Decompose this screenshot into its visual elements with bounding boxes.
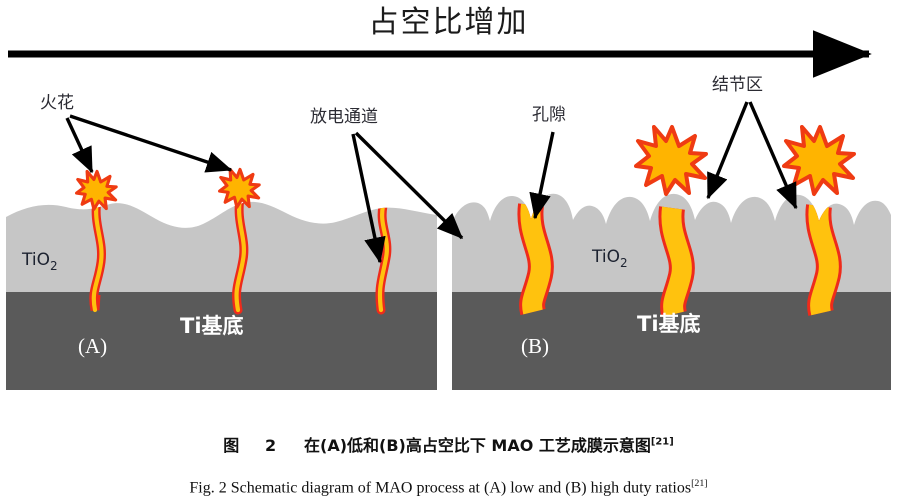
panel-b: TiO2 (B) Ti基底 — [452, 127, 891, 390]
pore-channel-core — [530, 205, 540, 312]
label-nodular-zone: 结节区 — [712, 75, 763, 95]
caption-chinese-text: 在(A)低和(B)高占空比下 MAO 工艺成膜示意图 — [304, 436, 651, 455]
label-spark: 火花 — [40, 93, 74, 113]
panel-a-tag: (A) — [78, 334, 107, 358]
caption-fig-word: 图 — [223, 436, 242, 455]
spark-burst — [220, 169, 260, 207]
panel-b-tag: (B) — [521, 334, 549, 358]
pore-channel-core — [818, 206, 828, 313]
panel-b-substrate-label: Ti基底 — [637, 312, 701, 336]
panel-a-substrate-label: Ti基底 — [180, 314, 244, 338]
caption-chinese: 图 2 在(A)低和(B)高占空比下 MAO 工艺成膜示意图[21] — [0, 432, 897, 456]
callout-arrow-nodular-zone — [708, 102, 796, 208]
spark-burst — [636, 127, 706, 194]
label-pore: 孔隙 — [532, 105, 566, 125]
spark-burst — [77, 171, 117, 209]
label-discharge-channel: 放电通道 — [310, 107, 378, 127]
callout-arrow-spark — [67, 116, 231, 172]
caption-english-ref: [21] — [691, 478, 708, 489]
mao-schematic-diagram: TiO2 (A) Ti基底 — [0, 0, 897, 430]
caption-fig-number: 2 — [265, 436, 276, 455]
spark-burst — [784, 127, 854, 194]
panel-a: TiO2 (A) Ti基底 — [6, 169, 437, 390]
panel-a-oxide-layer — [6, 202, 437, 292]
caption-chinese-ref: [21] — [651, 437, 674, 448]
figure-page: 占空比增加 — [0, 0, 897, 504]
caption-english: Fig. 2 Schematic diagram of MAO process … — [0, 478, 897, 497]
caption-english-text: Fig. 2 Schematic diagram of MAO process … — [189, 479, 691, 496]
pore-channel-core — [671, 208, 681, 314]
panel-a-substrate — [6, 292, 437, 390]
